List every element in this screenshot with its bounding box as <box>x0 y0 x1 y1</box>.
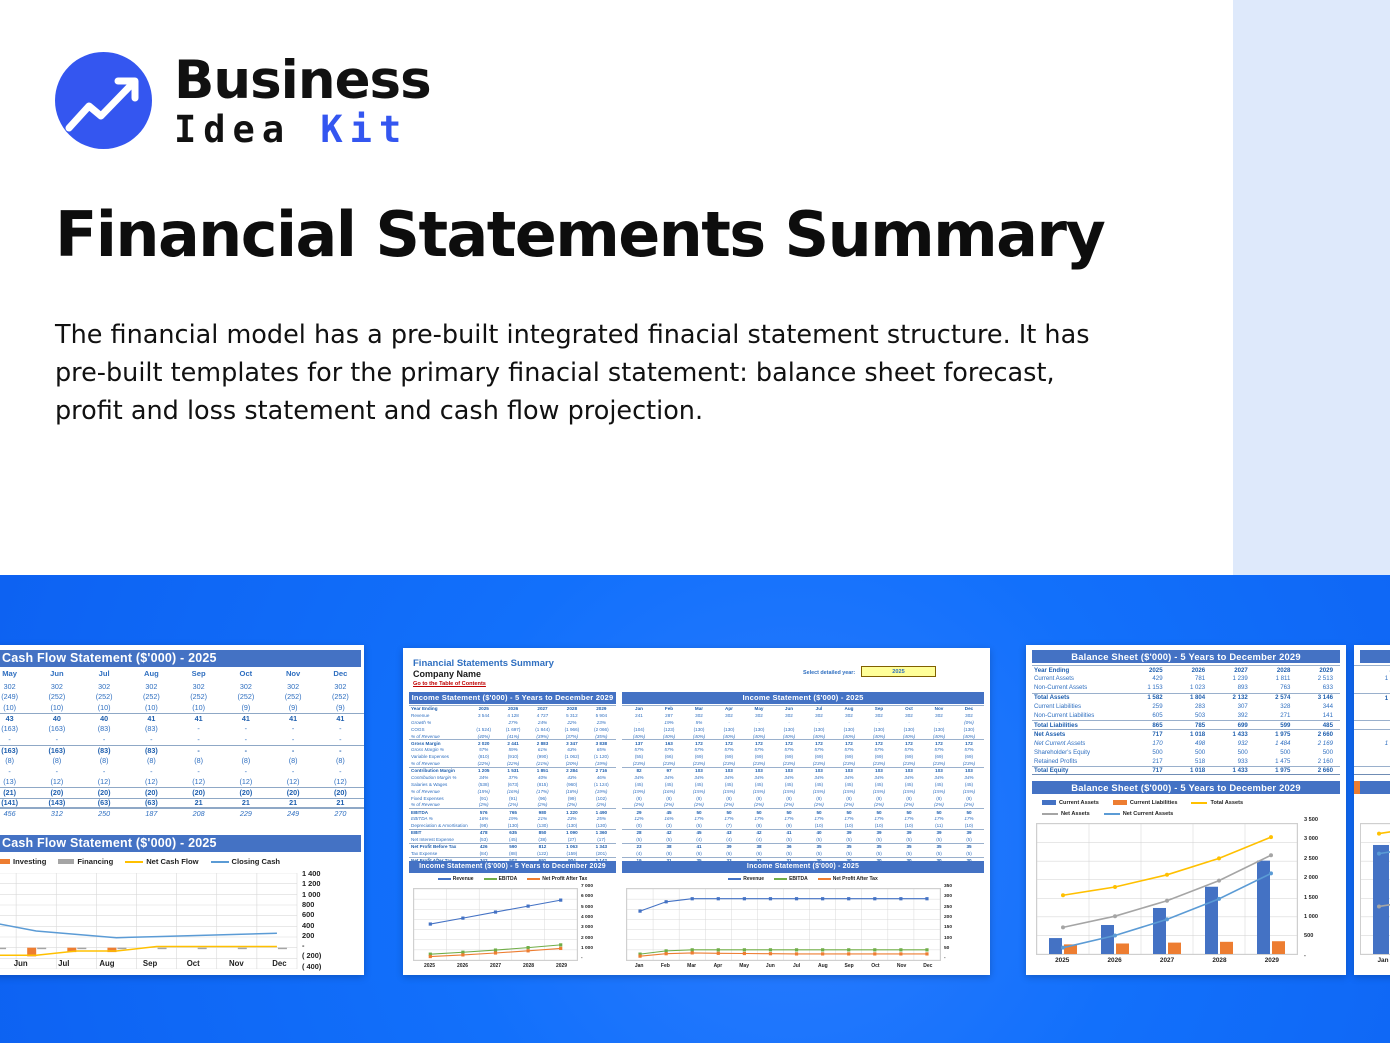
cash-flow-chart-yaxis: 1 4001 2001 000800600400200-( 200)( 400) <box>298 869 358 969</box>
table-cell: 172 <box>804 741 834 746</box>
cash-flow-cell: - <box>0 735 33 744</box>
legend-line-icon <box>728 878 741 880</box>
table-cell: (45) <box>894 782 924 787</box>
row-cells: 4297811 2391 8112 513 <box>1127 675 1340 682</box>
table-cell: (40%) <box>804 734 834 739</box>
table-cell: 2025 <box>1127 667 1170 674</box>
axis-tick-label: 2029 <box>545 963 578 969</box>
table-cell: Apr <box>714 706 744 711</box>
axis-tick-label: 400 <box>302 921 314 930</box>
cropped-sheet-title-bar <box>1360 650 1390 663</box>
axis-tick-label: Jun <box>757 963 783 969</box>
table-cell: 1 023 <box>1170 684 1213 691</box>
table-cell: 41 <box>684 844 714 849</box>
legend-label: Revenue <box>453 876 474 882</box>
cash-flow-legend-item: Investing <box>0 857 46 866</box>
table-cell: 50 <box>684 810 714 815</box>
axis-tick-label: 1 000 <box>1304 914 1318 920</box>
table-cell: (7) <box>714 823 744 828</box>
legend-label: Financing <box>77 857 113 866</box>
cash-flow-table-row: -------- <box>0 734 364 745</box>
table-cell: (40%) <box>774 734 804 739</box>
row-label: Revenue <box>409 713 469 718</box>
table-cell: 57% <box>774 747 804 752</box>
legend-label: EBITDA <box>789 876 808 882</box>
cash-flow-cell: 270 <box>317 809 364 818</box>
table-cell: (810) <box>469 754 498 759</box>
brand-wordmark: Business Idea Kit <box>174 54 431 148</box>
cash-flow-cell: (8) <box>81 756 128 765</box>
table-cell: 5 312 <box>557 713 586 718</box>
chart-legend-item: Net Current Assets <box>1104 811 1173 817</box>
table-cell: 1 975 <box>1255 731 1298 738</box>
chart-legend-item: Current Assets <box>1042 800 1099 806</box>
row-cells: 137163172172172172172172172172172172 <box>624 741 984 746</box>
row-label: Retained Profits <box>1032 758 1127 765</box>
row-cells: (2%)(2%)(2%)(2%)(2%) <box>469 802 616 807</box>
table-cell: (17) <box>587 837 616 842</box>
table-cell: 812 <box>528 844 557 849</box>
table-cell: 1 018 <box>1170 767 1213 774</box>
cash-flow-cell: 21 <box>317 798 364 807</box>
cash-flow-cell: 302 <box>128 682 175 691</box>
table-cell: (102) <box>587 796 616 801</box>
table-cell: (8) <box>744 823 774 828</box>
balance-sheet-row: Current Assets4297811 2391 8112 513 <box>1032 674 1340 683</box>
table-cell: (2%) <box>684 802 714 807</box>
table-cell: 172 <box>894 741 924 746</box>
cash-flow-cell: - <box>81 735 128 744</box>
row-cells: 20252026202720282029 <box>1127 667 1340 674</box>
table-cell: 500 <box>1212 749 1255 756</box>
table-cell: 2 160 <box>1297 758 1340 765</box>
balance-sheet-row: Non-Current Assets1 1531 023893763633 <box>1032 683 1340 692</box>
row-label: Salaries & Wages <box>409 782 469 787</box>
balance-sheet-chart-title: Balance Sheet ($'000) - 5 Years to Decem… <box>1032 781 1340 794</box>
table-cell: 34% <box>834 775 864 780</box>
table-cell: (2%) <box>954 802 984 807</box>
legend-line-icon <box>438 878 451 880</box>
cash-flow-cell: 229 <box>222 809 269 818</box>
cash-flow-cell: (12) <box>270 777 317 786</box>
cash-flow-cell: - <box>0 767 33 776</box>
table-cell: 103 <box>894 768 924 773</box>
row-cells: 1 5821 8042 1322 5743 146 <box>1127 694 1340 701</box>
cropped-sheet-cell: 1 081 <box>1354 739 1390 748</box>
table-cell: 172 <box>684 741 714 746</box>
table-cell: (6) <box>744 851 774 856</box>
table-cell: 503 <box>1170 712 1213 719</box>
legend-swatch-icon <box>0 859 10 864</box>
income-statement-row: Fixed Expenses(91)(91)(96)(99)(102) <box>409 795 616 802</box>
table-cell: 635 <box>498 830 527 835</box>
table-cell: 302 <box>954 713 984 718</box>
income-statement-row: Gross Margin2 0202 4412 8833 3473 838 <box>409 739 616 746</box>
row-cells: 259283307328344 <box>1127 703 1340 710</box>
axis-tick-label: 3 500 <box>1304 817 1318 823</box>
table-cell: (0) <box>624 823 654 828</box>
cash-flow-month-label: Oct <box>222 669 269 678</box>
chart-legend-item: Revenue <box>728 876 764 882</box>
cash-flow-cell: (249) <box>0 692 33 701</box>
table-cell: (69) <box>684 754 714 759</box>
table-cell: 485 <box>1297 722 1340 729</box>
income-statement-row: Net Profit Before Tax4265908121 0631 343 <box>409 843 616 850</box>
cash-flow-table-row: (8)(8)(8)(8)(8)(8)(8)(8) <box>0 755 364 766</box>
cash-flow-month-label: Jul <box>81 669 128 678</box>
brand-name-bottom: Idea Kit <box>174 111 431 148</box>
cash-flow-table-row: (13)(12)(12)(12)(12)(12)(12)(12) <box>0 776 364 787</box>
table-cell: (130) <box>894 727 924 732</box>
cash-flow-cell: (252) <box>175 692 222 701</box>
table-cell: - <box>714 720 744 725</box>
table-cell: (21%) <box>528 761 557 766</box>
table-cell: (130) <box>864 727 894 732</box>
page-description: The financial model has a pre-built inte… <box>55 316 1095 430</box>
axis-tick-label: 1 000 <box>302 890 321 899</box>
cash-flow-cell: 249 <box>270 809 317 818</box>
balance-sheet-row: Non-Current Liabilities605503392271141 <box>1032 711 1340 720</box>
cropped-sheet-cell: 1 174 <box>1354 674 1390 683</box>
table-cell: (19%) <box>624 789 654 794</box>
table-cell: (10) <box>804 823 834 828</box>
table-cell: 50 <box>774 810 804 815</box>
table-cell: (130) <box>684 727 714 732</box>
axis-tick-label: 7 000 <box>581 884 593 889</box>
growth-arrow-icon <box>55 52 152 149</box>
chart-legend-item: Revenue <box>438 876 474 882</box>
table-cell: (8) <box>864 796 894 801</box>
table-cell: 429 <box>1127 675 1170 682</box>
table-cell: 518 <box>1170 758 1213 765</box>
income-statement-row: 57%57%57%57%57%57%57%57%57%57%57%57% <box>622 746 984 753</box>
table-cell: (2%) <box>498 802 527 807</box>
income-statement-row: (104)(123)(130)(130)(130)(130)(130)(130)… <box>622 726 984 733</box>
income-statement-row: JanFebMarAprMayJunJulAugSepOctNovDec <box>622 705 984 712</box>
axis-tick-label: 200 <box>302 931 314 940</box>
legend-label: Current Liabilities <box>1130 800 1178 806</box>
table-cell: (8) <box>894 796 924 801</box>
table-cell: 785 <box>1170 722 1213 729</box>
table-cell: (159) <box>557 851 586 856</box>
legend-label: Current Assets <box>1059 800 1099 806</box>
row-label: EBIT <box>409 830 469 835</box>
cash-flow-cell: (20) <box>128 788 175 797</box>
table-cell: 717 <box>1127 767 1170 774</box>
table-cell: 500 <box>1127 749 1170 756</box>
table-cell: (5) <box>774 837 804 842</box>
table-cell: (8) <box>774 796 804 801</box>
chart-legend-item: EBITDA <box>774 876 808 882</box>
table-cell: (130) <box>714 727 744 732</box>
table-cell: 1 063 <box>557 844 586 849</box>
table-cell: 103 <box>834 768 864 773</box>
table-cell: 35 <box>894 844 924 849</box>
table-cell: 2 660 <box>1297 731 1340 738</box>
cash-flow-table-row: -------- <box>0 766 364 777</box>
axis-tick-label: Mar <box>679 963 705 969</box>
row-cells: 605503392271141 <box>1127 712 1340 719</box>
balance-sheet-table-title: Balance Sheet ($'000) - 5 Years to Decem… <box>1032 650 1340 663</box>
row-cells: 12%16%17%17%17%17%17%17%17%17%17%17% <box>624 816 984 821</box>
table-cell: 302 <box>714 713 744 718</box>
cropped-sheet-cell: 124 <box>1354 683 1390 692</box>
income-statement-row: 12%16%17%17%17%17%17%17%17%17%17%17% <box>622 815 984 822</box>
income-statement-5y-plot <box>413 888 578 961</box>
axis-tick-label: 3 000 <box>1304 836 1318 842</box>
table-cell: (98) <box>469 823 498 828</box>
axis-tick-label: Oct <box>172 959 215 968</box>
cash-flow-table-row: (141)(143)(63)(63)21212121 <box>0 798 364 809</box>
cash-flow-cell: (83) <box>128 746 175 755</box>
axis-tick-label: 800 <box>302 900 314 909</box>
income-statement-row: Net Interest Expense(53)(45)(38)(27)(17) <box>409 836 616 843</box>
table-cell: (40%) <box>924 734 954 739</box>
table-cell: 2 020 <box>469 741 498 746</box>
row-cells: JanFebMarAprMayJunJulAugSepOctNovDec <box>624 706 984 711</box>
table-cell: 16% <box>654 816 684 821</box>
cash-flow-cell: 187 <box>128 809 175 818</box>
income-statement-row: % of Revenue(40%)(41%)(39%)(37%)(35%) <box>409 733 616 740</box>
table-cell: 1 239 <box>1212 675 1255 682</box>
cropped-sheet-cell: 512 <box>1354 729 1390 738</box>
table-cell: - <box>774 720 804 725</box>
table-cell: (1 124) <box>587 782 616 787</box>
decorative-right-panel <box>1233 0 1390 575</box>
table-cell: 57% <box>864 747 894 752</box>
table-cell: (69) <box>954 754 984 759</box>
table-cell: (45) <box>834 782 864 787</box>
table-cell: 35 <box>864 844 894 849</box>
table-cell: Jul <box>804 706 834 711</box>
table-cell: 1 490 <box>587 810 616 815</box>
axis-tick-label: Jul <box>42 959 85 968</box>
table-cell: (3) <box>654 823 684 828</box>
table-cell: 50 <box>954 810 984 815</box>
axis-tick-label: Jan <box>626 963 652 969</box>
table-of-contents-link[interactable]: Go to the Table of Contents <box>413 681 486 687</box>
cropped-sheet-cell: 1 297 <box>1354 693 1390 702</box>
row-cells: 16%19%21%23%25% <box>469 816 616 821</box>
table-cell: - <box>924 720 954 725</box>
income-statement-row: 34%34%34%34%34%34%34%34%34%34%34%34% <box>622 774 984 781</box>
cash-flow-cell: (20) <box>317 788 364 797</box>
table-cell: (40%) <box>954 734 984 739</box>
select-year-input[interactable]: 2025 <box>861 666 936 677</box>
table-cell: 34% <box>894 775 924 780</box>
row-label: Variable Expenses <box>409 754 469 759</box>
table-cell: (5) <box>924 837 954 842</box>
table-cell: 699 <box>1212 722 1255 729</box>
table-cell: Sep <box>864 706 894 711</box>
table-cell: 2029 <box>587 706 616 711</box>
axis-tick-label: - <box>581 956 583 961</box>
table-cell: 2028 <box>1255 667 1298 674</box>
table-cell: 2026 <box>498 706 527 711</box>
axis-tick-label: 5 000 <box>581 905 593 910</box>
thumbnail-cropped-sheet[interactable]: Jan1 1741241 297936927865121 08150012512… <box>1354 645 1390 975</box>
table-cell: 23% <box>557 816 586 821</box>
table-cell: 43% <box>557 775 586 780</box>
table-cell: (19%) <box>587 761 616 766</box>
table-cell: 3 838 <box>587 741 616 746</box>
table-cell: 103 <box>774 768 804 773</box>
cash-flow-cell: (252) <box>222 692 269 701</box>
table-cell: (910) <box>498 754 527 759</box>
table-cell: (130) <box>954 727 984 732</box>
table-cell: 302 <box>864 713 894 718</box>
table-cell: 27% <box>498 720 527 725</box>
row-label: Net Current Assets <box>1032 740 1127 747</box>
row-cells: 865785699599485 <box>1127 722 1340 729</box>
income-statement-row: EBIT4786358501 0901 360 <box>409 829 616 836</box>
table-cell: (27) <box>557 837 586 842</box>
cash-flow-cell: (13) <box>0 777 33 786</box>
balance-sheet-row: Net Assets7171 0181 4331 9752 660 <box>1032 729 1340 738</box>
table-cell: (4) <box>684 837 714 842</box>
cash-flow-cell: (20) <box>270 788 317 797</box>
table-cell: 39 <box>834 830 864 835</box>
table-cell: 932 <box>1212 740 1255 747</box>
row-cells: (8)(8)(8)(8)(8)(8)(8)(8)(8)(8)(8)(8) <box>624 796 984 801</box>
balance-sheet-chart-yaxis: 3 5003 0002 5002 0001 5001 000500- <box>1302 817 1344 962</box>
table-cell: (23%) <box>714 761 744 766</box>
table-cell: (15%) <box>894 789 924 794</box>
thumbnail-financial-statements-summary[interactable]: Financial Statements Summary Company Nam… <box>403 648 990 975</box>
row-label: Total Liabilities <box>1032 722 1127 729</box>
row-cells: (22%)(22%)(21%)(20%)(19%) <box>469 761 616 766</box>
table-cell: 172 <box>954 741 984 746</box>
table-cell: 2 660 <box>1297 767 1340 774</box>
row-label: Year Ending <box>1032 667 1127 674</box>
table-cell: 980 <box>528 810 557 815</box>
table-cell: (130) <box>744 727 774 732</box>
table-cell: (4) <box>624 851 654 856</box>
axis-tick-label: 2026 <box>446 963 479 969</box>
table-cell: (69) <box>714 754 744 759</box>
table-cell: 17% <box>924 816 954 821</box>
row-cells: 20252026202720282029 <box>469 706 616 711</box>
table-cell: 57% <box>684 747 714 752</box>
table-cell: (5) <box>654 837 684 842</box>
table-cell: 302 <box>684 713 714 718</box>
row-cells: (1 524)(1 697)(1 844)(1 966)(2 066) <box>469 727 616 732</box>
cash-flow-month-header: MayJunJulAugSepOctNovDec <box>0 669 364 678</box>
table-cell: 34% <box>714 775 744 780</box>
row-cells: (45)(45)(45)(45)(45)(45)(45)(45)(45)(45)… <box>624 782 984 787</box>
table-cell: 34% <box>774 775 804 780</box>
legend-swatch-icon <box>1191 802 1207 804</box>
table-cell: 865 <box>1127 722 1170 729</box>
legend-label: Net Current Assets <box>1123 811 1173 817</box>
table-cell: (1 120) <box>587 754 616 759</box>
row-cells: 1 2051 5311 8512 2842 716 <box>469 768 616 773</box>
cash-flow-cell: (8) <box>175 756 222 765</box>
table-cell: (815) <box>528 782 557 787</box>
table-cell: (5) <box>894 837 924 842</box>
axis-tick-label: - <box>1304 953 1306 959</box>
income-statement-monthly-yaxis: 35030025020015010050- <box>944 884 980 966</box>
cash-flow-cell: (10) <box>175 703 222 712</box>
table-cell: (45) <box>654 782 684 787</box>
income-statement-row: (23%)(23%)(23%)(23%)(23%)(23%)(23%)(23%)… <box>622 760 984 767</box>
cash-flow-cell: (252) <box>128 692 175 701</box>
row-cells: 57%57%57%57%57%57%57%57%57%57%57%57% <box>624 747 984 752</box>
table-cell: 17% <box>864 816 894 821</box>
cash-flow-cell: - <box>33 735 80 744</box>
table-cell: 781 <box>1170 675 1213 682</box>
cash-flow-cell: - <box>270 767 317 776</box>
income-statement-row: Contribution Margin1 2051 5311 8512 2842… <box>409 767 616 774</box>
table-cell: (40%) <box>714 734 744 739</box>
table-cell: 302 <box>894 713 924 718</box>
table-cell: 57% <box>954 747 984 752</box>
table-cell: 893 <box>1212 684 1255 691</box>
legend-swatch-icon <box>58 859 74 864</box>
table-cell: 23 <box>624 844 654 849</box>
table-cell: Nov <box>924 706 954 711</box>
row-cells: 34%34%34%34%34%34%34%34%34%34%34%34% <box>624 775 984 780</box>
income-statement-row: 8297103103103103103103103103103103 <box>622 767 984 774</box>
table-cell: 103 <box>684 768 714 773</box>
income-statement-monthly-legend: RevenueEBITDANet Profit After Tax <box>622 876 984 882</box>
axis-tick-label: 2025 <box>1036 957 1088 964</box>
row-cells: (55)(66)(69)(69)(69)(69)(69)(69)(69)(69)… <box>624 754 984 759</box>
thumbnail-balance-sheet[interactable]: Balance Sheet ($'000) - 5 Years to Decem… <box>1026 645 1346 975</box>
table-cell: 1 582 <box>1127 694 1170 701</box>
cash-flow-month-label: Dec <box>317 669 364 678</box>
table-cell: (8) <box>954 796 984 801</box>
cash-flow-cell: 41 <box>175 714 222 723</box>
table-cell: (8) <box>924 796 954 801</box>
table-cell: 34% <box>804 775 834 780</box>
cash-flow-cell: (252) <box>317 692 364 701</box>
axis-tick-label: 250 <box>944 905 952 910</box>
table-cell: 25% <box>587 816 616 821</box>
income-statement-row: (2%)(2%)(2%)(2%)(2%)(2%)(2%)(2%)(2%)(2%)… <box>622 801 984 808</box>
row-cells: (84)(88)(122)(159)(201) <box>469 851 616 856</box>
thumbnail-cash-flow-statement[interactable]: Cash Flow Statement ($'000) - 2025 MayJu… <box>0 645 364 975</box>
table-cell: 172 <box>864 741 894 746</box>
table-cell: 17% <box>774 816 804 821</box>
table-cell: (45) <box>864 782 894 787</box>
row-label: Growth % <box>409 720 469 725</box>
table-cell: (5) <box>624 837 654 842</box>
table-cell: 35 <box>834 844 864 849</box>
table-cell: 22% <box>557 720 586 725</box>
table-cell: 57% <box>714 747 744 752</box>
table-cell: (123) <box>654 727 684 732</box>
cash-flow-cell: 41 <box>270 714 317 723</box>
row-label: Net Assets <box>1032 731 1127 738</box>
table-cell: (2%) <box>774 802 804 807</box>
axis-tick-label: 300 <box>944 894 952 899</box>
balance-sheet-table: Year Ending20252026202720282029Current A… <box>1032 665 1340 775</box>
cash-flow-cell: 302 <box>317 682 364 691</box>
table-cell: 39 <box>954 830 984 835</box>
cash-flow-cell: (8) <box>128 756 175 765</box>
legend-label: Total Assets <box>1210 800 1243 806</box>
income-statement-row: Variable Expenses(810)(910)(990)(1 062)(… <box>409 753 616 760</box>
cash-flow-legend-item: Financing <box>58 857 113 866</box>
table-cell: Oct <box>894 706 924 711</box>
table-cell: Jun <box>774 706 804 711</box>
axis-tick-label: 1 200 <box>302 879 321 888</box>
axis-tick-label: Sep <box>129 959 172 968</box>
table-cell: 17% <box>684 816 714 821</box>
row-cells: (104)(123)(130)(130)(130)(130)(130)(130)… <box>624 727 984 732</box>
cash-flow-cell: (83) <box>81 746 128 755</box>
